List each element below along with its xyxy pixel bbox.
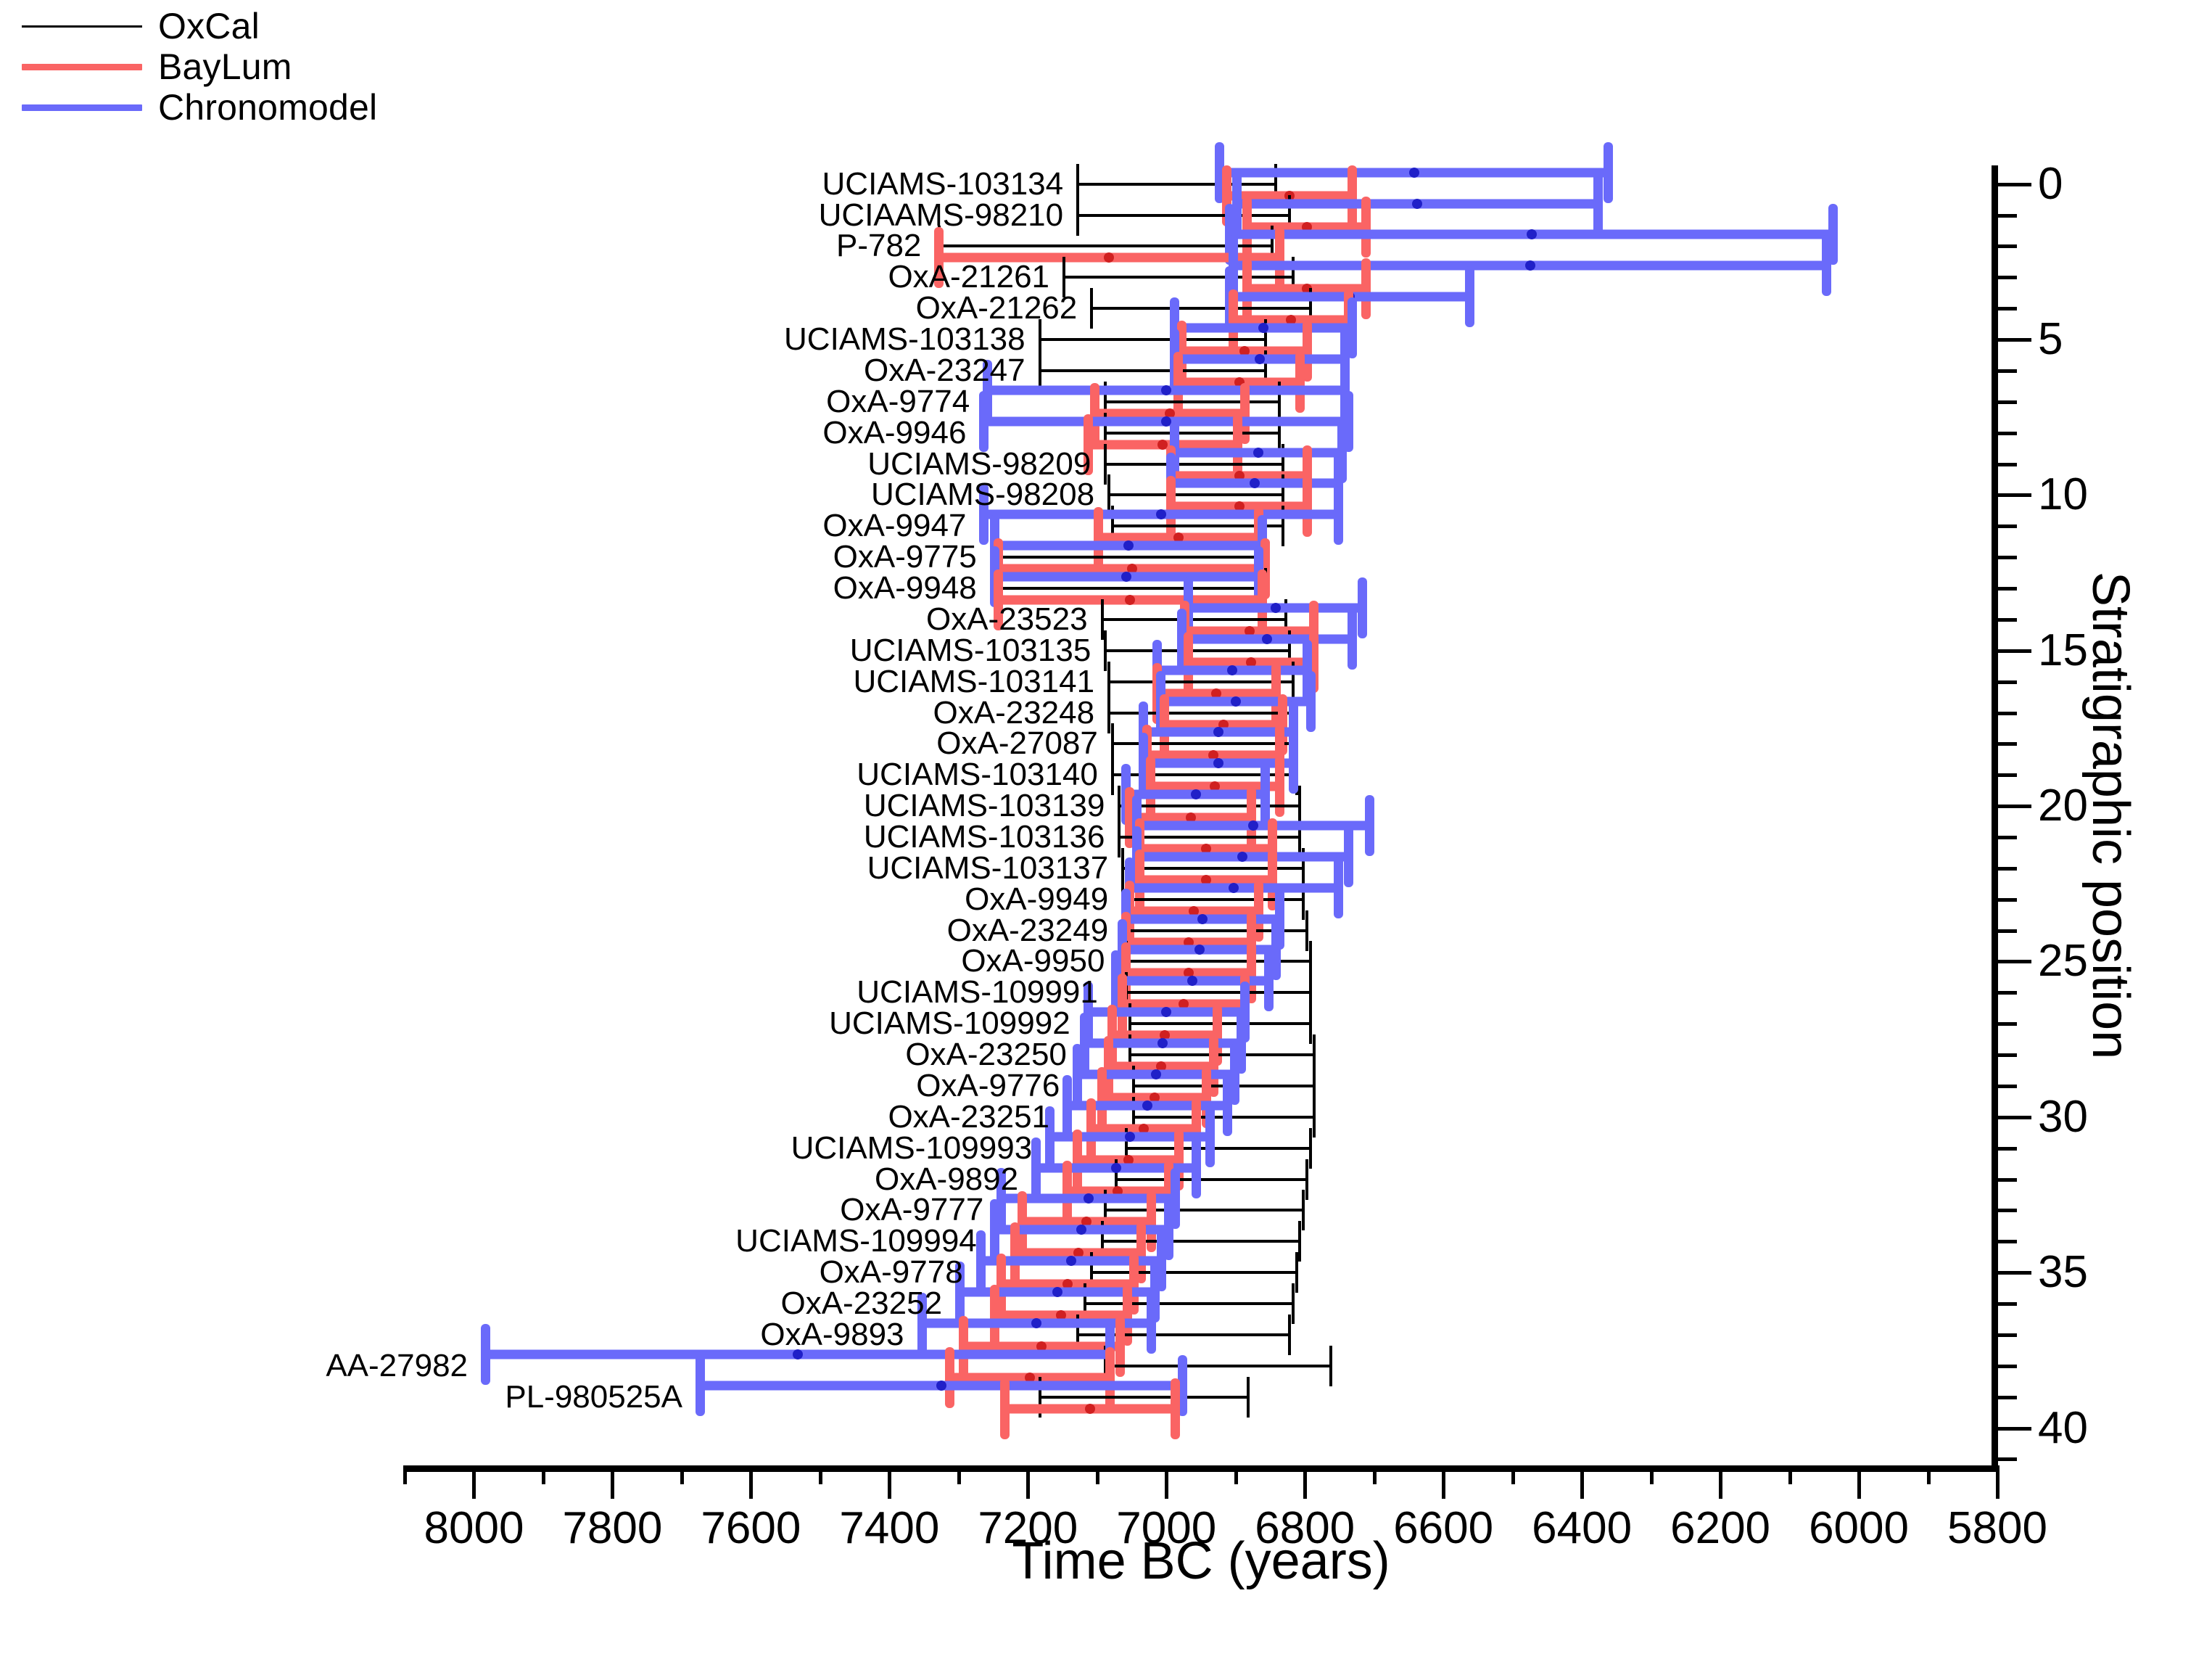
sample-label: OxA-9947	[0, 510, 966, 542]
x-tick-minor	[680, 1465, 684, 1484]
error-bar-cap-right	[1329, 1346, 1332, 1386]
error-bar-cap-right	[1334, 857, 1343, 918]
sample-label: UCIAMS-98208	[0, 479, 1094, 511]
error-bar-cap-right	[1306, 671, 1316, 732]
error-bar-cap-left	[1000, 1378, 1010, 1439]
legend-label: Chronomodel	[158, 89, 377, 126]
sample-label: OxA-21261	[0, 261, 1049, 293]
y-tick-minor	[1998, 1302, 2017, 1306]
y-tick-minor	[1998, 991, 2017, 995]
error-bar-midpoint	[1085, 1404, 1095, 1414]
sample-label: OxA-9774	[0, 386, 970, 418]
y-tick-minor	[1998, 1457, 2017, 1461]
x-tick-minor	[1788, 1465, 1792, 1484]
sample-label: UCIAMS-103136	[0, 821, 1105, 853]
y-tick-minor	[1998, 432, 2017, 435]
error-bar-cap-right	[1292, 1283, 1295, 1324]
y-tick-major	[1998, 493, 2031, 497]
x-tick-major	[472, 1465, 476, 1499]
y-tick-minor	[1998, 1333, 2017, 1337]
sample-label: UCIAMS-103140	[0, 759, 1098, 791]
y-axis-line	[1992, 165, 1998, 1472]
y-tick-minor	[1998, 773, 2017, 777]
x-tick-major	[611, 1465, 614, 1499]
error-bar-cap-right	[1365, 795, 1374, 856]
sample-label: OxA-23523	[0, 604, 1088, 635]
y-tick-minor	[1998, 556, 2017, 559]
x-tick-major	[1857, 1465, 1861, 1499]
error-bar-cap-left	[1111, 754, 1114, 795]
x-tick-minor	[403, 1465, 407, 1484]
sample-label: UCIAMS-103139	[0, 790, 1105, 822]
y-tick-minor	[1998, 463, 2017, 466]
y-tick-minor	[1998, 1085, 2017, 1088]
y-tick-minor	[1998, 1209, 2017, 1212]
y-tick-minor	[1998, 618, 2017, 622]
x-tick-minor	[1927, 1465, 1931, 1484]
error-bar-baylum	[1000, 1378, 1180, 1439]
x-tick-major	[749, 1465, 753, 1499]
y-tick-minor	[1998, 307, 2017, 310]
y-tick-minor	[1998, 867, 2017, 871]
y-tick-minor	[1998, 400, 2017, 404]
sample-label: OxA-23252	[0, 1288, 942, 1320]
sample-label: OxA-23248	[0, 697, 1094, 729]
error-bar-cap-left	[1118, 817, 1121, 857]
y-axis-title: Stratigraphic position	[2076, 165, 2145, 1465]
error-bar-cap-right	[1358, 577, 1367, 638]
error-bar-cap-right	[1334, 484, 1343, 545]
error-bar-cap-left	[1107, 693, 1110, 733]
error-bar-cap-right	[1344, 826, 1353, 887]
y-tick-minor	[1998, 369, 2017, 373]
sample-label: OxA-23250	[0, 1039, 1067, 1071]
sample-label: OxA-9775	[0, 541, 977, 573]
legend-item-baylum[interactable]: BayLum	[22, 46, 486, 87]
sample-label: OxA-23249	[0, 915, 1108, 947]
y-tick-minor	[1998, 712, 2017, 715]
x-tick-minor	[1096, 1465, 1099, 1484]
x-axis-line	[405, 1465, 1997, 1472]
sample-label: UCIAAMS-98210	[0, 199, 1063, 231]
error-bar-cap-left	[696, 1355, 705, 1416]
sample-label: UCIAMS-109994	[0, 1225, 977, 1257]
sample-label: UCIAMS-109993	[0, 1132, 1032, 1164]
y-tick-minor	[1998, 214, 2017, 218]
legend-swatch-chronomodel	[22, 104, 142, 111]
y-tick-minor	[1998, 1396, 2017, 1399]
legend-item-oxcal[interactable]: OxCal	[22, 6, 486, 46]
y-tick-minor	[1998, 244, 2017, 248]
sample-label: OxA-23247	[0, 355, 1025, 387]
y-tick-label: 5	[2038, 317, 2063, 362]
sample-label: UCIAMS-98209	[0, 448, 1091, 480]
y-tick-major	[1998, 183, 2031, 186]
sample-label: OxA-9778	[0, 1256, 963, 1288]
sample-label: OxA-9776	[0, 1070, 1060, 1102]
y-tick-major	[1998, 1271, 2031, 1275]
x-tick-major	[1719, 1465, 1722, 1499]
error-bar-cap-left	[1104, 444, 1107, 485]
y-tick-minor	[1998, 1147, 2017, 1151]
sample-label: UCIAMS-109991	[0, 976, 1098, 1008]
legend-label: OxCal	[158, 8, 260, 44]
x-tick-minor	[542, 1465, 545, 1484]
y-tick-minor	[1998, 929, 2017, 933]
sample-label: AA-27982	[0, 1350, 468, 1382]
error-bar-cap-right	[1822, 235, 1831, 296]
error-bar-midpoint	[1525, 260, 1535, 271]
x-tick-minor	[819, 1465, 822, 1484]
y-tick-minor	[1998, 836, 2017, 839]
legend-item-chronomodel[interactable]: Chronomodel	[22, 87, 486, 128]
x-axis-title: Time BC (years)	[405, 1532, 1997, 1590]
sample-label: UCIAMS-103137	[0, 852, 1108, 884]
error-bar-cap-right	[1465, 266, 1474, 327]
sample-label: PL-980525A	[0, 1381, 682, 1413]
error-bar-cap-left	[1101, 599, 1104, 640]
y-tick-major	[1998, 805, 2031, 808]
y-tick-major	[1998, 338, 2031, 342]
sample-label: OxA-21262	[0, 292, 1077, 324]
y-tick-minor	[1998, 1053, 2017, 1057]
x-tick-minor	[1511, 1465, 1515, 1484]
y-tick-major	[1998, 649, 2031, 653]
sample-label: OxA-9777	[0, 1194, 983, 1226]
error-bar-cap-left	[1104, 630, 1107, 671]
sample-label: OxA-27087	[0, 728, 1098, 760]
y-tick-minor	[1998, 587, 2017, 591]
y-tick-minor	[1998, 1178, 2017, 1182]
y-tick-minor	[1998, 276, 2017, 279]
error-bar-cap-right	[1309, 1128, 1312, 1169]
y-tick-minor	[1998, 524, 2017, 528]
sample-label: OxA-9948	[0, 572, 977, 604]
error-bar-cap-right	[1313, 1097, 1316, 1138]
legend-label: BayLum	[158, 49, 292, 85]
legend: OxCalBayLumChronomodel	[22, 6, 486, 128]
sample-label: UCIAMS-103138	[0, 324, 1025, 355]
error-bar-cap-right	[1171, 1378, 1180, 1439]
error-bar-cap-right	[1604, 142, 1613, 203]
y-tick-minor	[1998, 742, 2017, 746]
x-tick-minor	[957, 1465, 961, 1484]
y-tick-major	[1998, 960, 2031, 963]
x-tick-minor	[1650, 1465, 1654, 1484]
x-tick-minor	[1373, 1465, 1377, 1484]
sample-label: UCIAMS-103141	[0, 666, 1094, 698]
error-bar-cap-right	[1305, 1159, 1308, 1200]
y-tick-label: 0	[2038, 162, 2063, 207]
sample-label: OxA-9946	[0, 417, 966, 449]
x-tick-major	[1996, 1465, 2000, 1499]
x-tick-major	[1026, 1465, 1030, 1499]
chart-canvas: OxCalBayLumChronomodel 80007800760074007…	[0, 0, 2212, 1662]
x-tick-major	[1580, 1465, 1584, 1499]
legend-swatch-baylum	[22, 64, 142, 70]
x-tick-major	[1442, 1465, 1445, 1499]
sample-label: OxA-9893	[0, 1319, 904, 1351]
x-tick-major	[888, 1465, 891, 1499]
error-bar-cap-right	[1298, 1221, 1301, 1262]
y-tick-minor	[1998, 680, 2017, 684]
sample-label: UCIAMS-103134	[0, 168, 1063, 200]
sample-label: UCIAMS-103135	[0, 635, 1091, 667]
sample-label: OxA-9950	[0, 945, 1105, 977]
sample-label: OxA-9892	[0, 1164, 1018, 1196]
x-tick-minor	[1234, 1465, 1238, 1484]
y-tick-minor	[1998, 898, 2017, 902]
y-tick-major	[1998, 1116, 2031, 1119]
x-tick-major	[1165, 1465, 1168, 1499]
y-tick-minor	[1998, 1365, 2017, 1368]
error-bar-cap-right	[1302, 1190, 1305, 1230]
error-bar-midpoint	[936, 1381, 946, 1391]
sample-label: OxA-23251	[0, 1101, 1049, 1133]
error-bar-cap-right	[1348, 609, 1357, 670]
sample-label: UCIAMS-109992	[0, 1008, 1070, 1040]
error-bar-cap-right	[1247, 1377, 1250, 1418]
error-bar-cap-left	[979, 391, 989, 452]
y-tick-minor	[1998, 1022, 2017, 1026]
sample-label: P-782	[0, 230, 921, 262]
error-bar-cap-right	[1295, 1252, 1298, 1293]
legend-swatch-oxcal	[22, 25, 142, 28]
x-tick-major	[1303, 1465, 1307, 1499]
y-tick-major	[1998, 1427, 2031, 1431]
sample-label: OxA-9949	[0, 884, 1108, 916]
y-tick-minor	[1998, 1240, 2017, 1243]
